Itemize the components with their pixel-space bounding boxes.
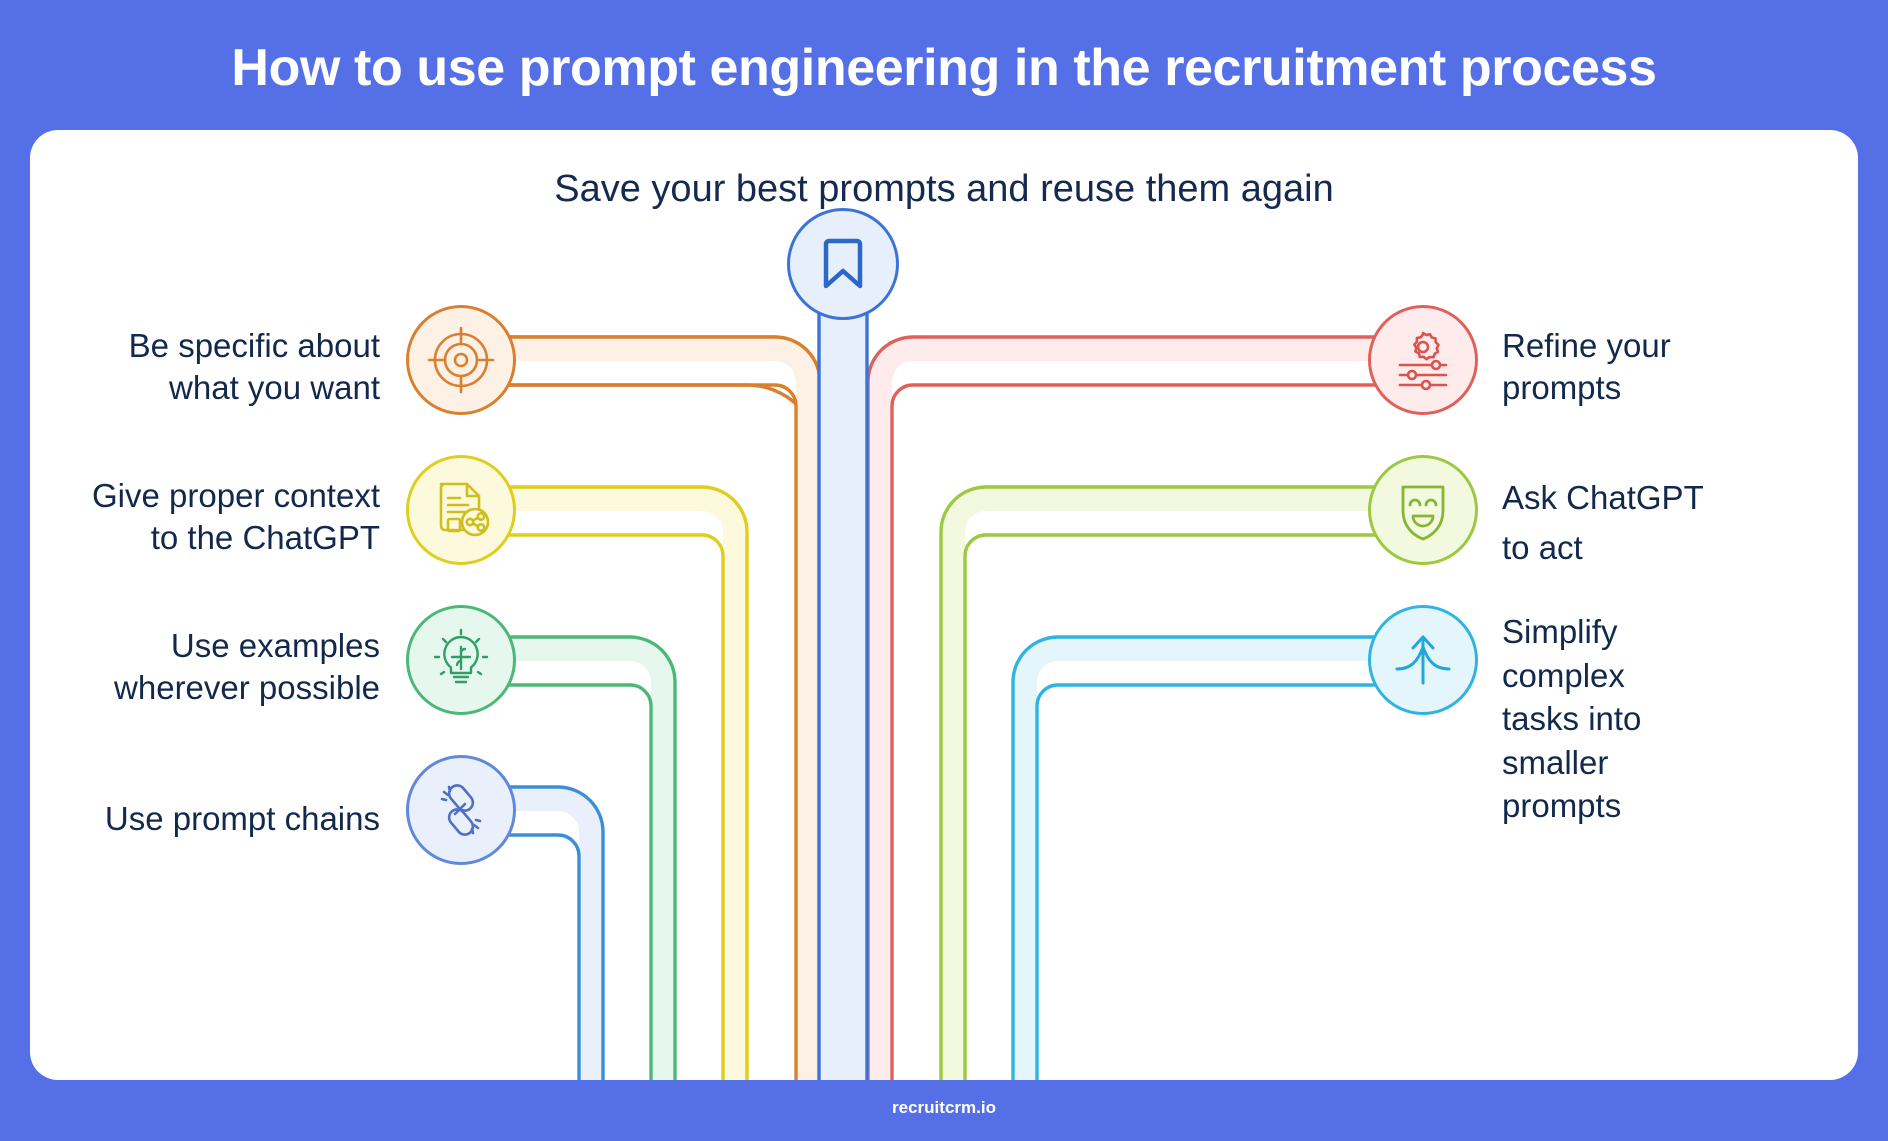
label-right-2: Ask ChatGPT to act (1502, 473, 1858, 572)
label-left-3: Use examples wherever possible (50, 625, 380, 709)
label-right-3-line1: Simplify complex (1502, 610, 1702, 697)
node-lightbulb-puzzle[interactable] (406, 605, 516, 715)
page-title: How to use prompt engineering in the rec… (0, 38, 1888, 98)
lightbulb-puzzle-icon (428, 627, 494, 693)
node-settings-sliders[interactable] (1368, 305, 1478, 415)
wire-diagram (30, 130, 1858, 1080)
label-right-2-line1: Ask ChatGPT (1502, 473, 1858, 523)
label-right-3-line2: tasks into smaller (1502, 697, 1702, 784)
node-theater-mask[interactable] (1368, 455, 1478, 565)
label-right-1-line1: Refine your (1502, 325, 1852, 367)
node-bookmark[interactable] (787, 208, 899, 320)
label-left-4-line1: Use prompt chains (30, 798, 380, 840)
label-right-3: Simplify complex tasks into smaller prom… (1502, 610, 1702, 828)
label-left-1-line2: what you want (50, 367, 380, 409)
wire-right-3-stroke (1013, 637, 1423, 1080)
node-document-share[interactable] (406, 455, 516, 565)
content-card: Save your best prompts and reuse them ag… (30, 130, 1858, 1080)
label-left-4: Use prompt chains (30, 798, 380, 840)
label-right-2-line2: to act (1502, 523, 1858, 573)
label-left-2: Give proper context to the ChatGPT (30, 475, 380, 559)
label-left-1: Be specific about what you want (50, 325, 380, 409)
label-right-1: Refine your prompts (1502, 325, 1852, 409)
node-target[interactable] (406, 305, 516, 415)
target-icon (426, 325, 496, 395)
infographic-root: How to use prompt engineering in the rec… (0, 0, 1888, 1141)
bookmark-icon (817, 236, 869, 292)
theater-mask-icon (1393, 477, 1453, 543)
footer-brand[interactable]: recruitcrm.io (0, 1098, 1888, 1118)
label-left-3-line2: wherever possible (50, 667, 380, 709)
label-left-2-line1: Give proper context (30, 475, 380, 517)
settings-sliders-icon (1390, 329, 1456, 391)
wire-center-body (819, 260, 867, 1080)
wire-right-3-body (1013, 637, 1423, 1080)
label-right-3-line3: prompts (1502, 784, 1702, 828)
label-right-1-line2: prompts (1502, 367, 1852, 409)
label-left-3-line1: Use examples (50, 625, 380, 667)
document-share-icon (429, 478, 493, 542)
label-left-2-line2: to the ChatGPT (30, 517, 380, 559)
chain-link-icon (429, 778, 493, 842)
merge-arrow-icon (1391, 631, 1455, 689)
node-chain-link[interactable] (406, 755, 516, 865)
label-left-1-line1: Be specific about (50, 325, 380, 367)
node-merge-arrow[interactable] (1368, 605, 1478, 715)
